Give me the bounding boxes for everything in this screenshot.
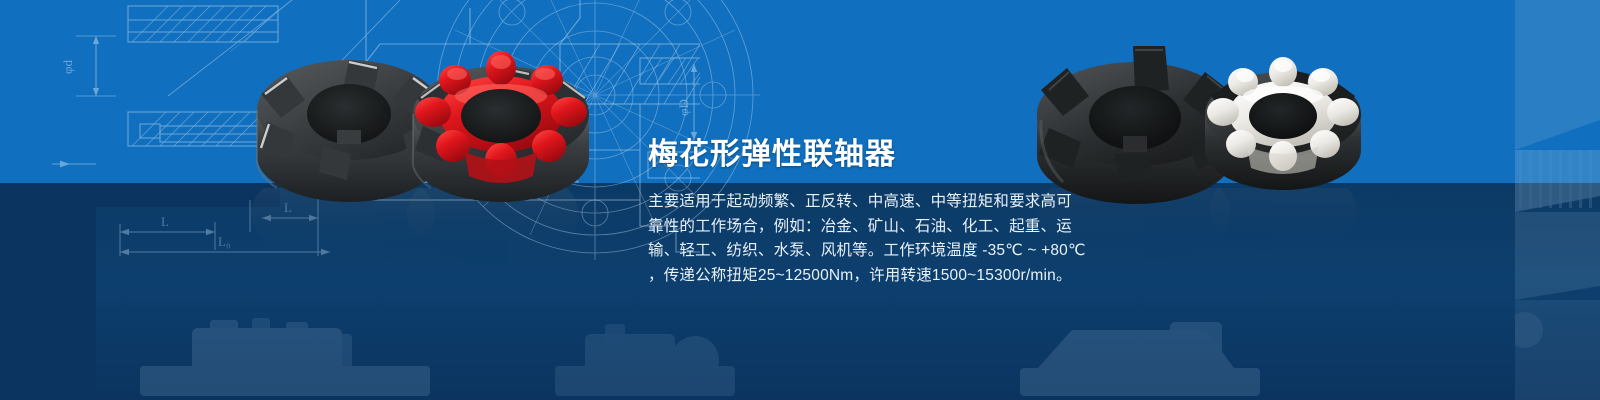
product-description: 主要适用于起动频繁、正反转、中高速、中等扭矩和要求高可 靠性的工作场合，例如：冶… (648, 190, 1068, 288)
description-line: ，传递公称扭矩25~12500Nm，许用转速1500~15300r/min。 (648, 264, 1068, 289)
page-title: 梅花形弹性联轴器 (648, 136, 1068, 174)
description-line: 主要适用于起动频繁、正反转、中高速、中等扭矩和要求高可 (648, 190, 1068, 215)
description-line: 输、轻工、纺织、水泵、风机等。工作环境温度 -35℃ ~ +80℃ (648, 239, 1068, 264)
background-left-dark-block (0, 183, 96, 400)
product-banner: φd (0, 0, 1600, 400)
banner-text-block: 梅花形弹性联轴器 主要适用于起动频繁、正反转、中高速、中等扭矩和要求高可 靠性的… (648, 136, 1068, 288)
description-line: 靠性的工作场合，例如：冶金、矿山、石油、化工、起重、运 (648, 215, 1068, 240)
